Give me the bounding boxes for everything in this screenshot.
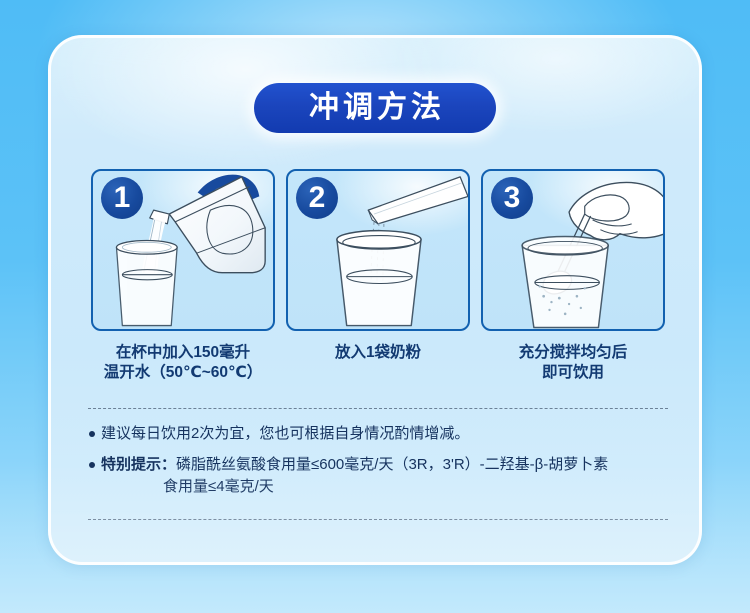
step-3: 3 [481,169,665,384]
step-1: 1 [91,169,275,384]
step-1-illustration-panel: 1 [91,169,275,331]
divider-top [88,408,668,409]
step-3-caption: 充分搅拌均匀后 即可饮用 [481,343,665,384]
step-1-number-badge: 1 [101,177,143,219]
step-2-number-badge: 2 [296,177,338,219]
promo-background: 冲调方法 1 [0,0,750,613]
instruction-card: 冲调方法 1 [48,35,702,565]
step-2-caption: 放入1袋奶粉 [286,343,470,363]
note-line-1: 建议每日饮用2次为宜，您也可根据自身情况酌情增减。 [101,423,677,446]
steps-row: 1 [91,169,665,384]
bullet-dot-icon [89,431,95,437]
note-item-special-tip: 特别提示：磷脂酰丝氨酸食用量≤600毫克/天（3R，3'R）-二羟基-β-胡萝卜… [89,454,677,499]
step-2: 2 [286,169,470,384]
note-text: 磷脂酰丝氨酸食用量≤600毫克/天（3R，3'R）-二羟基-β-胡萝卜素 [176,456,608,473]
step-2-illustration-panel: 2 [286,169,470,331]
title-banner: 冲调方法 [254,83,496,133]
note-body: 特别提示：磷脂酰丝氨酸食用量≤600毫克/天（3R，3'R）-二羟基-β-胡萝卜… [101,454,677,499]
step-1-caption: 在杯中加入150毫升 温开水（50℃~60℃） [91,343,275,384]
step-3-illustration-panel: 3 [481,169,665,331]
note-line-1: 特别提示：磷脂酰丝氨酸食用量≤600毫克/天（3R，3'R）-二羟基-β-胡萝卜… [101,454,677,477]
note-item-daily-serving: 建议每日饮用2次为宜，您也可根据自身情况酌情增减。 [89,423,677,446]
notes-list: 建议每日饮用2次为宜，您也可根据自身情况酌情增减。 特别提示：磷脂酰丝氨酸食用量… [89,423,677,507]
step-3-number-badge: 3 [491,177,533,219]
bullet-dot-icon [89,462,95,468]
banner-title: 冲调方法 [305,93,445,123]
banner-row: 冲调方法 [51,83,699,133]
divider-bottom [88,519,668,520]
note-line-2: 食用量≤4毫克/天 [101,476,677,499]
note-label: 特别提示： [101,456,176,473]
note-body: 建议每日饮用2次为宜，您也可根据自身情况酌情增减。 [101,423,677,446]
